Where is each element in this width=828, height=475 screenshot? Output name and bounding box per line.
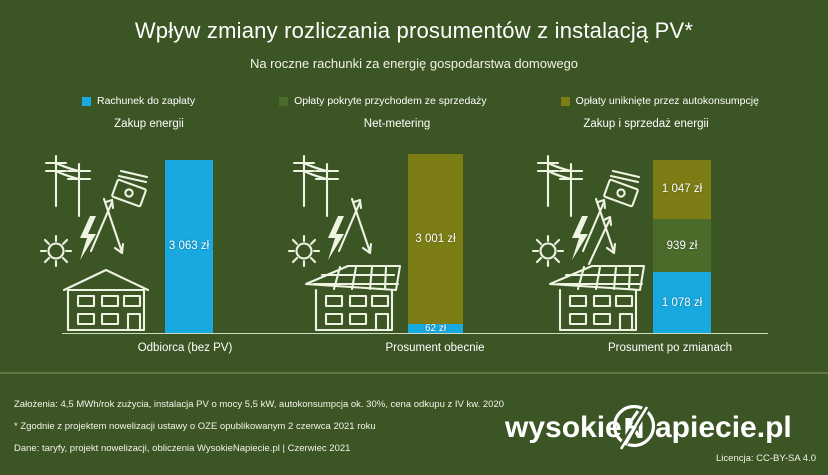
flow-arrow-up-icon bbox=[583, 200, 605, 251]
legend-swatch-uniknięte bbox=[561, 97, 570, 106]
bar-odbiorca[interactable]: 3 063 zł bbox=[165, 160, 213, 333]
house-icon bbox=[64, 270, 148, 330]
category-label-prosument-obecnie: Prosument obecnie bbox=[340, 342, 530, 354]
footer-divider bbox=[0, 372, 828, 374]
chart-plot-area: Zakup energii bbox=[0, 118, 828, 343]
sun-icon bbox=[41, 236, 71, 266]
bar-segment-uniknięte-2[interactable]: 1 047 zł bbox=[653, 160, 711, 219]
logo-text-left: wysokie bbox=[505, 411, 622, 444]
sun-icon bbox=[289, 236, 319, 266]
money-icon bbox=[112, 171, 147, 207]
bar-value-label-2-1: 939 zł bbox=[667, 240, 698, 252]
page-subtitle: Na roczne rachunki za energię gospodarst… bbox=[0, 56, 828, 71]
bar-segment-pokryte-2[interactable]: 939 zł bbox=[653, 219, 711, 272]
footer-assumptions: Założenia: 4,5 MWh/rok zużycia, instalac… bbox=[14, 399, 504, 410]
bar-prosument-po-zmianach[interactable]: 1 078 zł 939 zł 1 047 zł bbox=[653, 160, 711, 333]
legend-label-rachunek: Rachunek do zapłaty bbox=[97, 95, 195, 107]
sun-icon bbox=[533, 236, 563, 266]
legend-item-rachunek[interactable]: Rachunek do zapłaty bbox=[82, 95, 195, 107]
x-axis-category-labels: Odbiorca (bez PV) Prosument obecnie Pros… bbox=[0, 342, 828, 362]
group-title-2: Zakup i sprzedaż energii bbox=[516, 118, 776, 130]
power-pole-icon bbox=[46, 156, 90, 216]
lightning-bolt-icon bbox=[572, 216, 588, 260]
illustration-house-net-metering bbox=[282, 144, 427, 340]
flow-arrow-up-icon bbox=[339, 200, 361, 251]
x-axis-line bbox=[62, 333, 768, 334]
group-title-1: Net-metering bbox=[272, 118, 522, 130]
legend-swatch-rachunek bbox=[82, 97, 91, 106]
bar-value-label-2-0: 1 078 zł bbox=[662, 297, 702, 309]
bar-segment-rachunek-2[interactable]: 1 078 zł bbox=[653, 272, 711, 333]
chart-group-po-zmianach: Zakup i sprzedaż energii bbox=[516, 118, 776, 343]
footer-sources: Dane: taryfy, projekt nowelizacji, oblic… bbox=[14, 443, 350, 454]
flow-arrow-up-secondary-icon bbox=[589, 217, 611, 264]
bar-segment-uniknięte-1[interactable]: 3 001 zł bbox=[408, 154, 463, 324]
legend-item-pokryte[interactable]: Opłaty pokryte przychodem ze sprzedaży bbox=[279, 95, 487, 107]
power-pole-icon bbox=[294, 156, 338, 216]
legend-item-uniknięte[interactable]: Opłaty uniknięte przez autokonsumpcję bbox=[561, 95, 759, 107]
bar-segment-rachunek-1[interactable]: 62 zł bbox=[408, 324, 463, 333]
wysokienapiecie-logo[interactable]: wysokie N apiecie.pl bbox=[505, 405, 815, 450]
lightning-bolt-icon bbox=[80, 216, 96, 260]
bar-segment-rachunek-0[interactable]: 3 063 zł bbox=[165, 160, 213, 333]
bar-prosument-obecnie[interactable]: 62 zł 3 001 zł bbox=[408, 154, 463, 333]
logo-text-right: apiecie.pl bbox=[655, 411, 792, 444]
infographic-root: Wpływ zmiany rozliczania prosumentów z i… bbox=[0, 0, 828, 475]
power-pole-icon bbox=[538, 156, 582, 216]
legend-label-pokryte: Opłaty pokryte przychodem ze sprzedaży bbox=[294, 95, 487, 107]
bar-value-label-1-1: 3 001 zł bbox=[415, 233, 455, 245]
category-label-prosument-po-zmianach: Prosument po zmianach bbox=[570, 342, 770, 354]
solar-panel-roof-icon bbox=[550, 266, 644, 290]
house-icon bbox=[316, 290, 392, 330]
footer-footnote: * Zgodnie z projektem nowelizacji ustawy… bbox=[14, 421, 376, 432]
house-icon bbox=[560, 290, 636, 330]
group-title-0: Zakup energii bbox=[24, 118, 274, 130]
category-label-odbiorca: Odbiorca (bez PV) bbox=[90, 342, 280, 354]
bar-value-label-0-0: 3 063 zł bbox=[169, 240, 209, 252]
legend-swatch-pokryte bbox=[279, 97, 288, 106]
legend-label-uniknięte: Opłaty uniknięte przez autokonsumpcję bbox=[576, 95, 759, 107]
illustration-house-buy-sell bbox=[526, 144, 671, 340]
chart-legend: Rachunek do zapłaty Opłaty pokryte przyc… bbox=[70, 95, 770, 107]
solar-panel-roof-icon bbox=[306, 266, 400, 290]
flow-arrow-up-icon bbox=[91, 200, 113, 251]
chart-group-odbiorca: Zakup energii bbox=[24, 118, 274, 343]
page-title: Wpływ zmiany rozliczania prosumentów z i… bbox=[0, 18, 828, 44]
illustration-house-no-pv bbox=[34, 144, 179, 340]
license-text: Licencja: CC-BY-SA 4.0 bbox=[716, 453, 816, 464]
money-icon bbox=[604, 171, 639, 207]
lightning-bolt-icon bbox=[328, 216, 344, 260]
chart-group-net-metering: Net-metering bbox=[272, 118, 522, 343]
bar-value-label-2-2: 1 047 zł bbox=[662, 183, 702, 195]
